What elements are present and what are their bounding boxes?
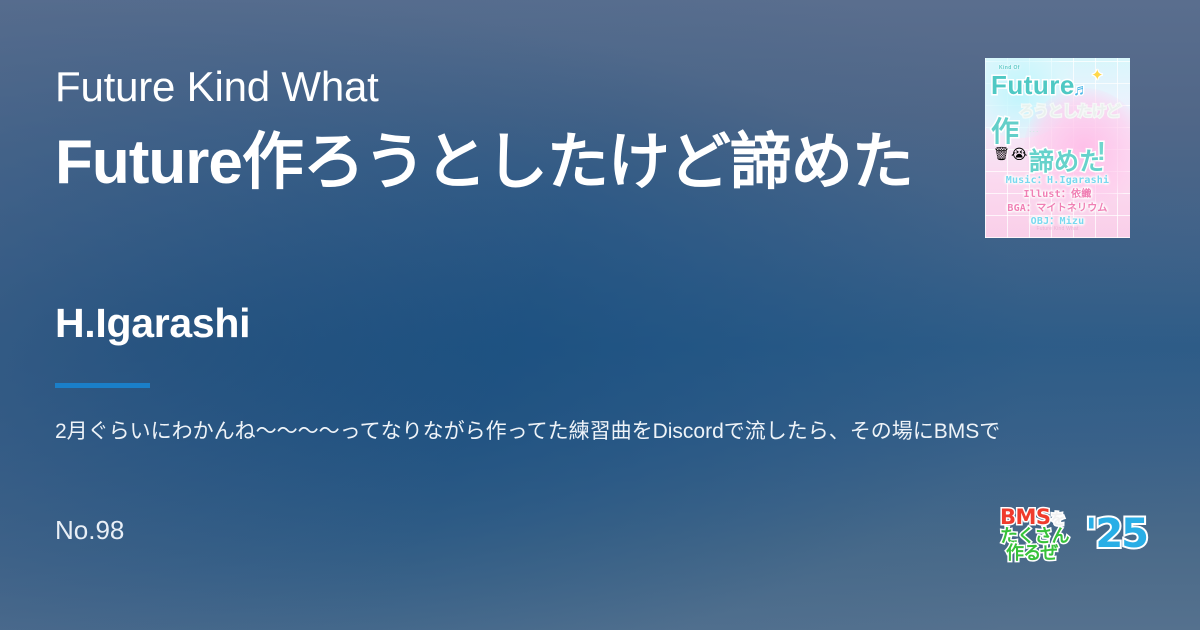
album-footer-text: Future Kind What [985, 226, 1130, 232]
crying-face-icon: 😭 [1011, 146, 1027, 163]
event-logo-text-stack: BMSを たくさん 作るぜ [1000, 507, 1096, 563]
music-note-icon: ♬ [1073, 82, 1089, 100]
artist-name: H.Igarashi [55, 300, 250, 347]
card-description: 2月ぐらいにわかんね〜〜〜〜ってなりながら作ってた練習曲をDiscordで流した… [55, 417, 1200, 447]
page-title: Future作ろうとしたけど諦めた [55, 128, 935, 197]
star-icon: ✦ [1091, 66, 1104, 84]
album-word-tsukurou: 作 [991, 110, 1019, 150]
album-word-akirameta: 諦めた [1029, 142, 1104, 178]
album-exclamation: ! [1097, 136, 1106, 167]
trash-icon: 🗑 [993, 146, 1010, 162]
album-ellipsis: ... [1029, 124, 1040, 134]
entry-number: No.98 [55, 515, 124, 546]
event-logo: BMSを たくさん 作るぜ '25 [1000, 505, 1145, 575]
event-logo-year: '25 [1085, 511, 1147, 557]
event-logo-row-3: 作るぜ [1006, 545, 1096, 563]
album-art-thumbnail: Kind Of Future ♬ ✦ ろうとしたけど 作 ... 🗑 😭 諦めた… [985, 58, 1130, 238]
album-word-future: Future [991, 70, 1075, 101]
album-credit-music: Music：H.Igarashi [985, 174, 1130, 188]
card-subtitle: Future Kind What [55, 62, 379, 112]
event-logo-row-1: BMSを [1000, 507, 1096, 528]
accent-divider [55, 383, 150, 388]
album-credit-illust: Illust：依織 [985, 188, 1130, 202]
album-credit-bga: BGA：マイトネリウム [985, 202, 1130, 216]
album-line-rouuto: ろうとしたけど [1019, 100, 1121, 121]
event-entry-card: Future Kind What Future作ろうとしたけど諦めた H.Iga… [0, 0, 1200, 630]
card-content: Future Kind What Future作ろうとしたけど諦めた H.Iga… [0, 0, 1200, 630]
album-credits: Music：H.Igarashi Illust：依織 BGA：マイトネリウム O… [985, 174, 1130, 229]
